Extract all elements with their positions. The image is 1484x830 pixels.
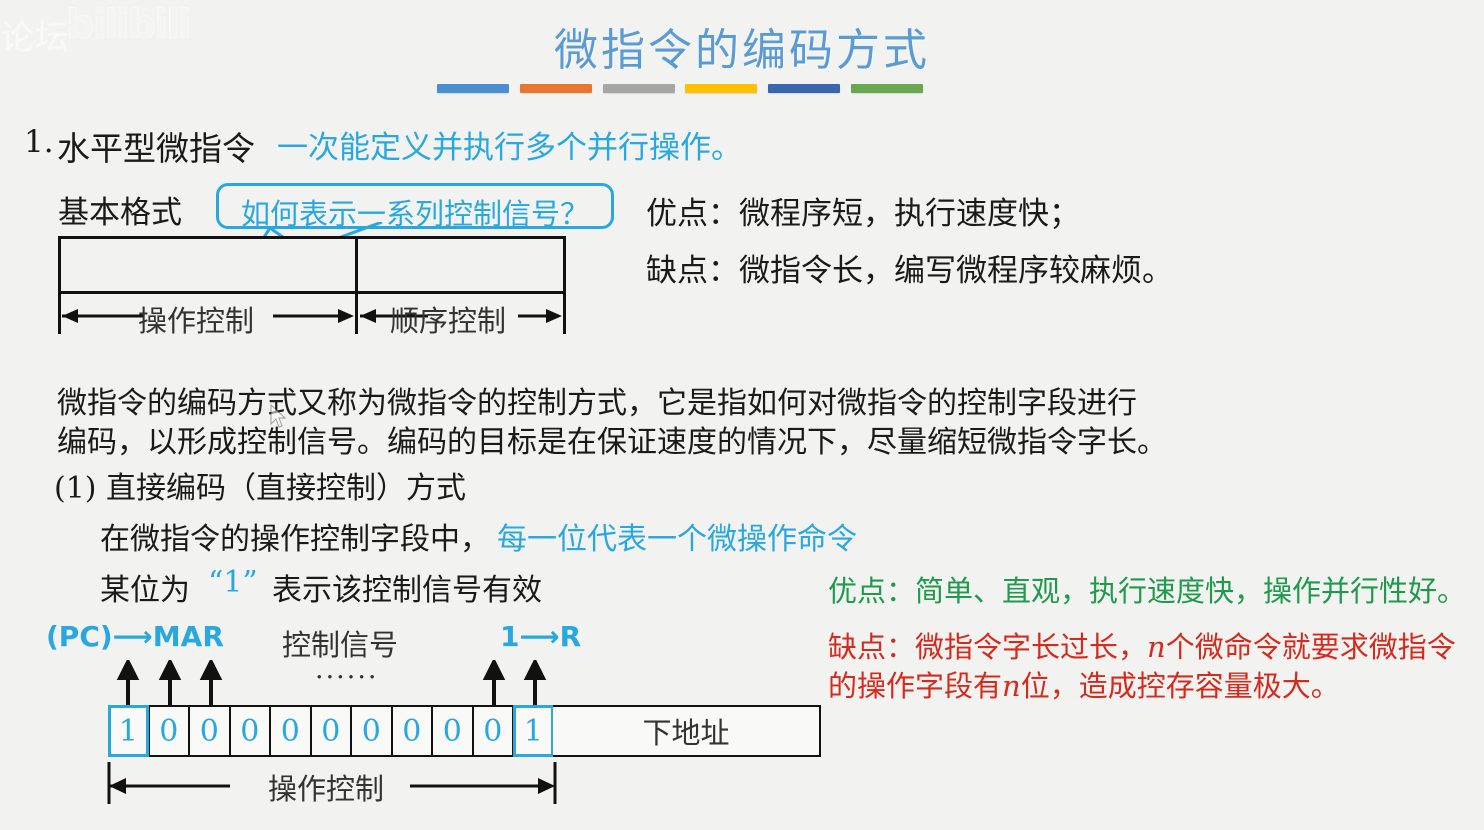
bit-cell[interactable]: 0 [473,705,514,757]
direct-encoding-disadvantage-line1: 缺点：微指令字长过长，n个微命令就要求微指令 [828,624,1456,666]
body-paragraph-line1: 微指令的编码方式又称为微指令的控制方式，它是指如何对微指令的控制字段进行 [57,378,1137,422]
operation-control-span-label: 操作控制 [268,766,384,808]
direct-encoding-disadvantage-line2: 的操作字段有n位，造成控存容量极大。 [828,663,1340,705]
title-bar-3 [603,84,675,93]
bit-cell[interactable]: 0 [392,705,433,757]
disadvantage-l2-part-a: 的操作字段有 [828,669,1002,703]
item1-line1-black: 在微指令的操作控制字段中， [100,514,490,558]
bit-cell[interactable]: 1 [513,705,554,757]
basic-format-label: 基本格式 [58,187,182,232]
disadvantage-l2-part-b: 位，造成控存容量极大。 [1021,669,1340,703]
format-field-operation-label: 操作控制 [138,298,254,340]
signal-label-pc-to-mar: (PC)⟶MAR [46,620,224,653]
section1-title: 水平型微指令 [57,122,255,170]
disadvantage-l1-part-a: 缺点：微指令字长过长， [828,630,1147,664]
bit-cell[interactable]: 0 [351,705,392,757]
item1-line2-part1: 某位为 [100,565,190,609]
bit-cell[interactable]: 0 [189,705,230,757]
bit-cell[interactable]: 1 [108,705,149,757]
slide-canvas: 论坛 bilibili 微指令的编码方式 1. 水平型微指令 一次能定义并执行多… [0,0,1484,830]
direct-encoding-advantage: 优点：简单、直观，执行速度快，操作并行性好。 [828,568,1466,610]
bit-cell[interactable]: 0 [230,705,271,757]
microinstruction-format-box [58,236,566,294]
bitfield-row: 1 0 0 0 0 0 0 0 0 0 1 [108,705,554,757]
body-paragraph-line2: 编码，以形成控制信号。编码的目标是在保证速度的情况下，尽量缩短微指令字长。 [57,417,1167,461]
item1-line1-blue: 每一位代表一个微操作命令 [497,514,857,558]
title-bar-1 [437,84,509,93]
signal-label-control: 控制信号 [282,622,398,664]
next-address-field: 下地址 [553,705,821,757]
section1-number: 1. [24,124,54,160]
callout-text: 如何表示一系列控制信号？ [219,191,611,233]
signal-label-1-to-r: 1⟶R [500,620,581,653]
disadvantage-l1-part-b: 个微命令就要求微指令 [1166,630,1456,664]
format-box-left-edge [58,236,61,334]
horizontal-advantage-text: 优点：微程序短，执行速度快； [646,188,1080,233]
bit-cell[interactable]: 0 [149,705,190,757]
signal-ellipsis: ······ [315,662,379,693]
title-bar-2 [520,84,592,93]
horizontal-disadvantage-text: 缺点：微指令长，编写微程序较麻烦。 [646,245,1173,290]
disadvantage-l2-var-n: n [1002,669,1021,703]
title-decor-bars [437,84,923,94]
item1-heading: (1) 直接编码（直接控制）方式 [54,463,466,507]
title-bar-6 [851,84,923,93]
section1-note: 一次能定义并执行多个并行操作。 [277,122,742,167]
callout-bubble: 如何表示一系列控制信号？ [216,183,614,229]
page-title: 微指令的编码方式 [0,14,1484,78]
format-box-divider [355,236,358,334]
bit-cell[interactable]: 0 [432,705,473,757]
disadvantage-l1-var-n: n [1147,630,1166,664]
bit-cell[interactable]: 0 [270,705,311,757]
format-box-right-edge [563,236,566,334]
title-bar-4 [685,84,757,93]
item1-line2-part2: 表示该控制信号有效 [272,565,542,609]
format-field-sequence-label: 顺序控制 [390,298,506,340]
bit-cell[interactable]: 0 [311,705,352,757]
item1-line2-quoted: “1” [208,565,258,600]
title-bar-5 [768,84,840,93]
